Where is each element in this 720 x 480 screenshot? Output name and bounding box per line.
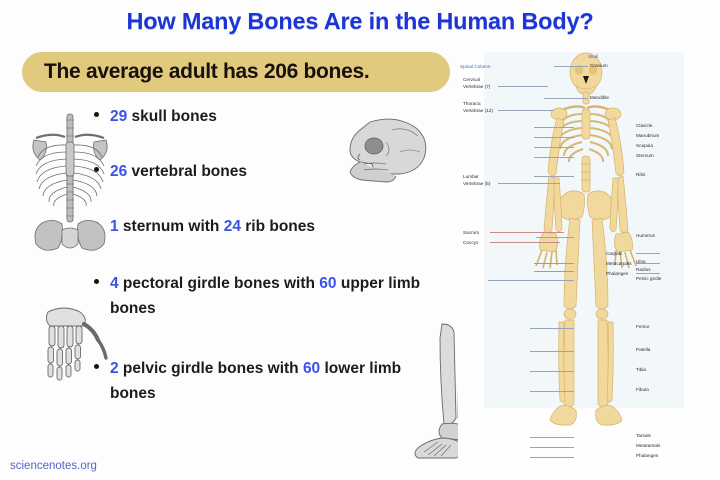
leader-line-phalanges-foot xyxy=(530,457,574,458)
diagram-label-lumbar-vertebrae: Vertebrae (5) xyxy=(463,181,490,187)
leader-line-sternum xyxy=(534,157,574,158)
leader-line-humerus xyxy=(536,237,574,238)
leader-line-clavicle xyxy=(534,127,574,128)
leader-line-pelvic-girdle xyxy=(488,280,574,281)
labeled-human-skeleton-diagram: Spinal Column Cervical Vertebrae (7) Tho… xyxy=(458,52,714,472)
page-title: How Many Bones Are in the Human Body? xyxy=(0,8,720,35)
leader-line-tarsals xyxy=(530,437,574,438)
leader-line-scapula xyxy=(534,147,574,148)
leader-line-sacrum xyxy=(490,232,564,233)
diagram-label-phalanges-hand: Phalanges xyxy=(606,271,628,277)
diagram-label-femur: Femur xyxy=(636,324,650,330)
leader-line-fibula xyxy=(530,391,574,392)
list-item-pelvic-lower-limb: 2 pelvic girdle bones with 60 lower limb… xyxy=(110,356,440,406)
diagram-label-tarsals: Tarsals xyxy=(636,433,651,439)
leader-line-lumbar xyxy=(498,183,560,184)
diagram-label-cranium: Cranium xyxy=(590,63,608,69)
leader-line-thoracic xyxy=(498,110,554,111)
count-value-secondary: 24 xyxy=(224,218,241,235)
leader-line-femur xyxy=(530,328,574,329)
diagram-label-clavicle: Clavicle xyxy=(636,123,652,129)
diagram-label-spinal-column: Spinal Column xyxy=(460,64,491,70)
leader-line-ulna xyxy=(534,263,574,264)
diagram-label-metacarpals: Metacarpals xyxy=(606,261,632,267)
leader-line-mandible xyxy=(544,98,588,99)
diagram-label-metatarsals: Metatarsals xyxy=(636,443,660,449)
diagram-label-patella: Patella xyxy=(636,347,650,353)
count-label: sternum with xyxy=(119,218,224,235)
count-label: vertebral bones xyxy=(127,163,247,180)
diagram-label-pelvic-girdle: Pelvic girdle xyxy=(636,276,661,282)
fact-banner-text: The average adult has 206 bones. xyxy=(22,60,369,84)
skeleton-figure xyxy=(458,52,714,472)
source-watermark: sciencenotes.org xyxy=(10,460,97,472)
diagram-label-skull: Skull xyxy=(588,54,598,60)
diagram-label-humerus: Humerus xyxy=(636,233,655,239)
leader-line-patella xyxy=(530,351,574,352)
list-item-pectoral-upper-limb: 4 pectoral girdle bones with 60 upper li… xyxy=(110,271,455,321)
diagram-label-phalanges-foot: Phalanges xyxy=(636,453,658,459)
count-value-secondary: 60 xyxy=(319,275,336,292)
diagram-label-ulna: Ulna xyxy=(636,259,646,265)
diagram-label-radius: Radius xyxy=(636,267,651,273)
diagram-label-thoracic-vertebrae: Vertebrae (12) xyxy=(463,108,493,114)
count-label: pelvic girdle bones with xyxy=(119,360,303,377)
count-value-secondary: 60 xyxy=(303,360,320,377)
list-item-sternum-ribs: 1 sternum with 24 rib bones xyxy=(110,214,470,239)
hand-skeleton-illustration xyxy=(18,300,114,384)
fact-banner: The average adult has 206 bones. xyxy=(22,52,450,92)
bullet-dot-icon xyxy=(94,279,99,284)
diagram-label-cervical: Cervical xyxy=(463,77,480,83)
diagram-label-scapula: Scapula xyxy=(636,143,653,149)
diagram-label-lumbar: Lumbar xyxy=(463,174,479,180)
count-label: pectoral girdle bones with xyxy=(119,275,320,292)
diagram-label-cervical-vertebrae: Vertebrae (7) xyxy=(463,84,490,90)
leader-line-tibia xyxy=(530,371,574,372)
ribcage-spine-pelvis-illustration xyxy=(22,112,118,257)
skull-lateral-illustration xyxy=(330,112,434,192)
leader-line-manubrium xyxy=(534,137,574,138)
count-label-secondary: rib bones xyxy=(241,218,315,235)
diagram-label-ribs: Ribs xyxy=(636,172,645,178)
leader-line-cranium xyxy=(554,66,588,67)
diagram-label-coccyx: Coccyx xyxy=(463,240,478,246)
diagram-label-sternum: Sternum xyxy=(636,153,654,159)
leader-line-radius xyxy=(534,271,574,272)
diagram-label-thoracic: Thoracic xyxy=(463,101,481,107)
leader-line-metatarsals xyxy=(530,447,574,448)
diagram-label-sacrum: Sacrum xyxy=(463,230,479,236)
infographic-canvas: How Many Bones Are in the Human Body? Th… xyxy=(0,0,720,480)
diagram-label-carpals: Carpals xyxy=(606,251,622,257)
count-label: skull bones xyxy=(127,108,217,125)
leader-line-cervical xyxy=(498,86,548,87)
leader-line-coccyx xyxy=(490,242,560,243)
leader-line-carpals xyxy=(636,253,660,254)
diagram-label-mandible: Mandible xyxy=(590,95,609,101)
diagram-label-tibia: Tibia xyxy=(636,367,646,373)
count-value: 4 xyxy=(110,275,119,292)
diagram-label-manubrium: Manubrium xyxy=(636,133,659,139)
diagram-label-fibula: Fibula xyxy=(636,387,649,393)
leader-line-ribs xyxy=(534,176,574,177)
